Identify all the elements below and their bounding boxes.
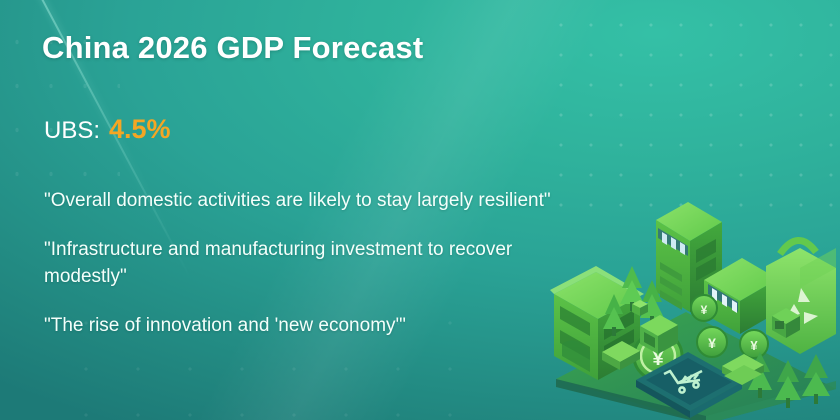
isometric-economy-illustration: ¥ ¥ ¥ ¥ bbox=[536, 184, 840, 420]
quote-item: "Infrastructure and manufacturing invest… bbox=[44, 237, 544, 291]
forecast-value: 4.5% bbox=[109, 114, 171, 145]
slide-canvas: China 2026 GDP Forecast UBS: 4.5% "Overa… bbox=[0, 0, 840, 420]
forecast-row: UBS: 4.5% bbox=[44, 114, 171, 145]
page-title: China 2026 GDP Forecast bbox=[42, 30, 423, 66]
yuan-coin: ¥ bbox=[697, 327, 727, 357]
yuan-coin: ¥ bbox=[691, 295, 717, 321]
forecast-source-label: UBS: bbox=[44, 117, 100, 145]
yuan-coin: ¥ bbox=[740, 330, 768, 358]
svg-text:¥: ¥ bbox=[701, 303, 708, 317]
svg-text:¥: ¥ bbox=[708, 335, 716, 351]
shopping-bag-with-recycle-symbol bbox=[766, 240, 836, 354]
svg-text:¥: ¥ bbox=[750, 338, 758, 353]
